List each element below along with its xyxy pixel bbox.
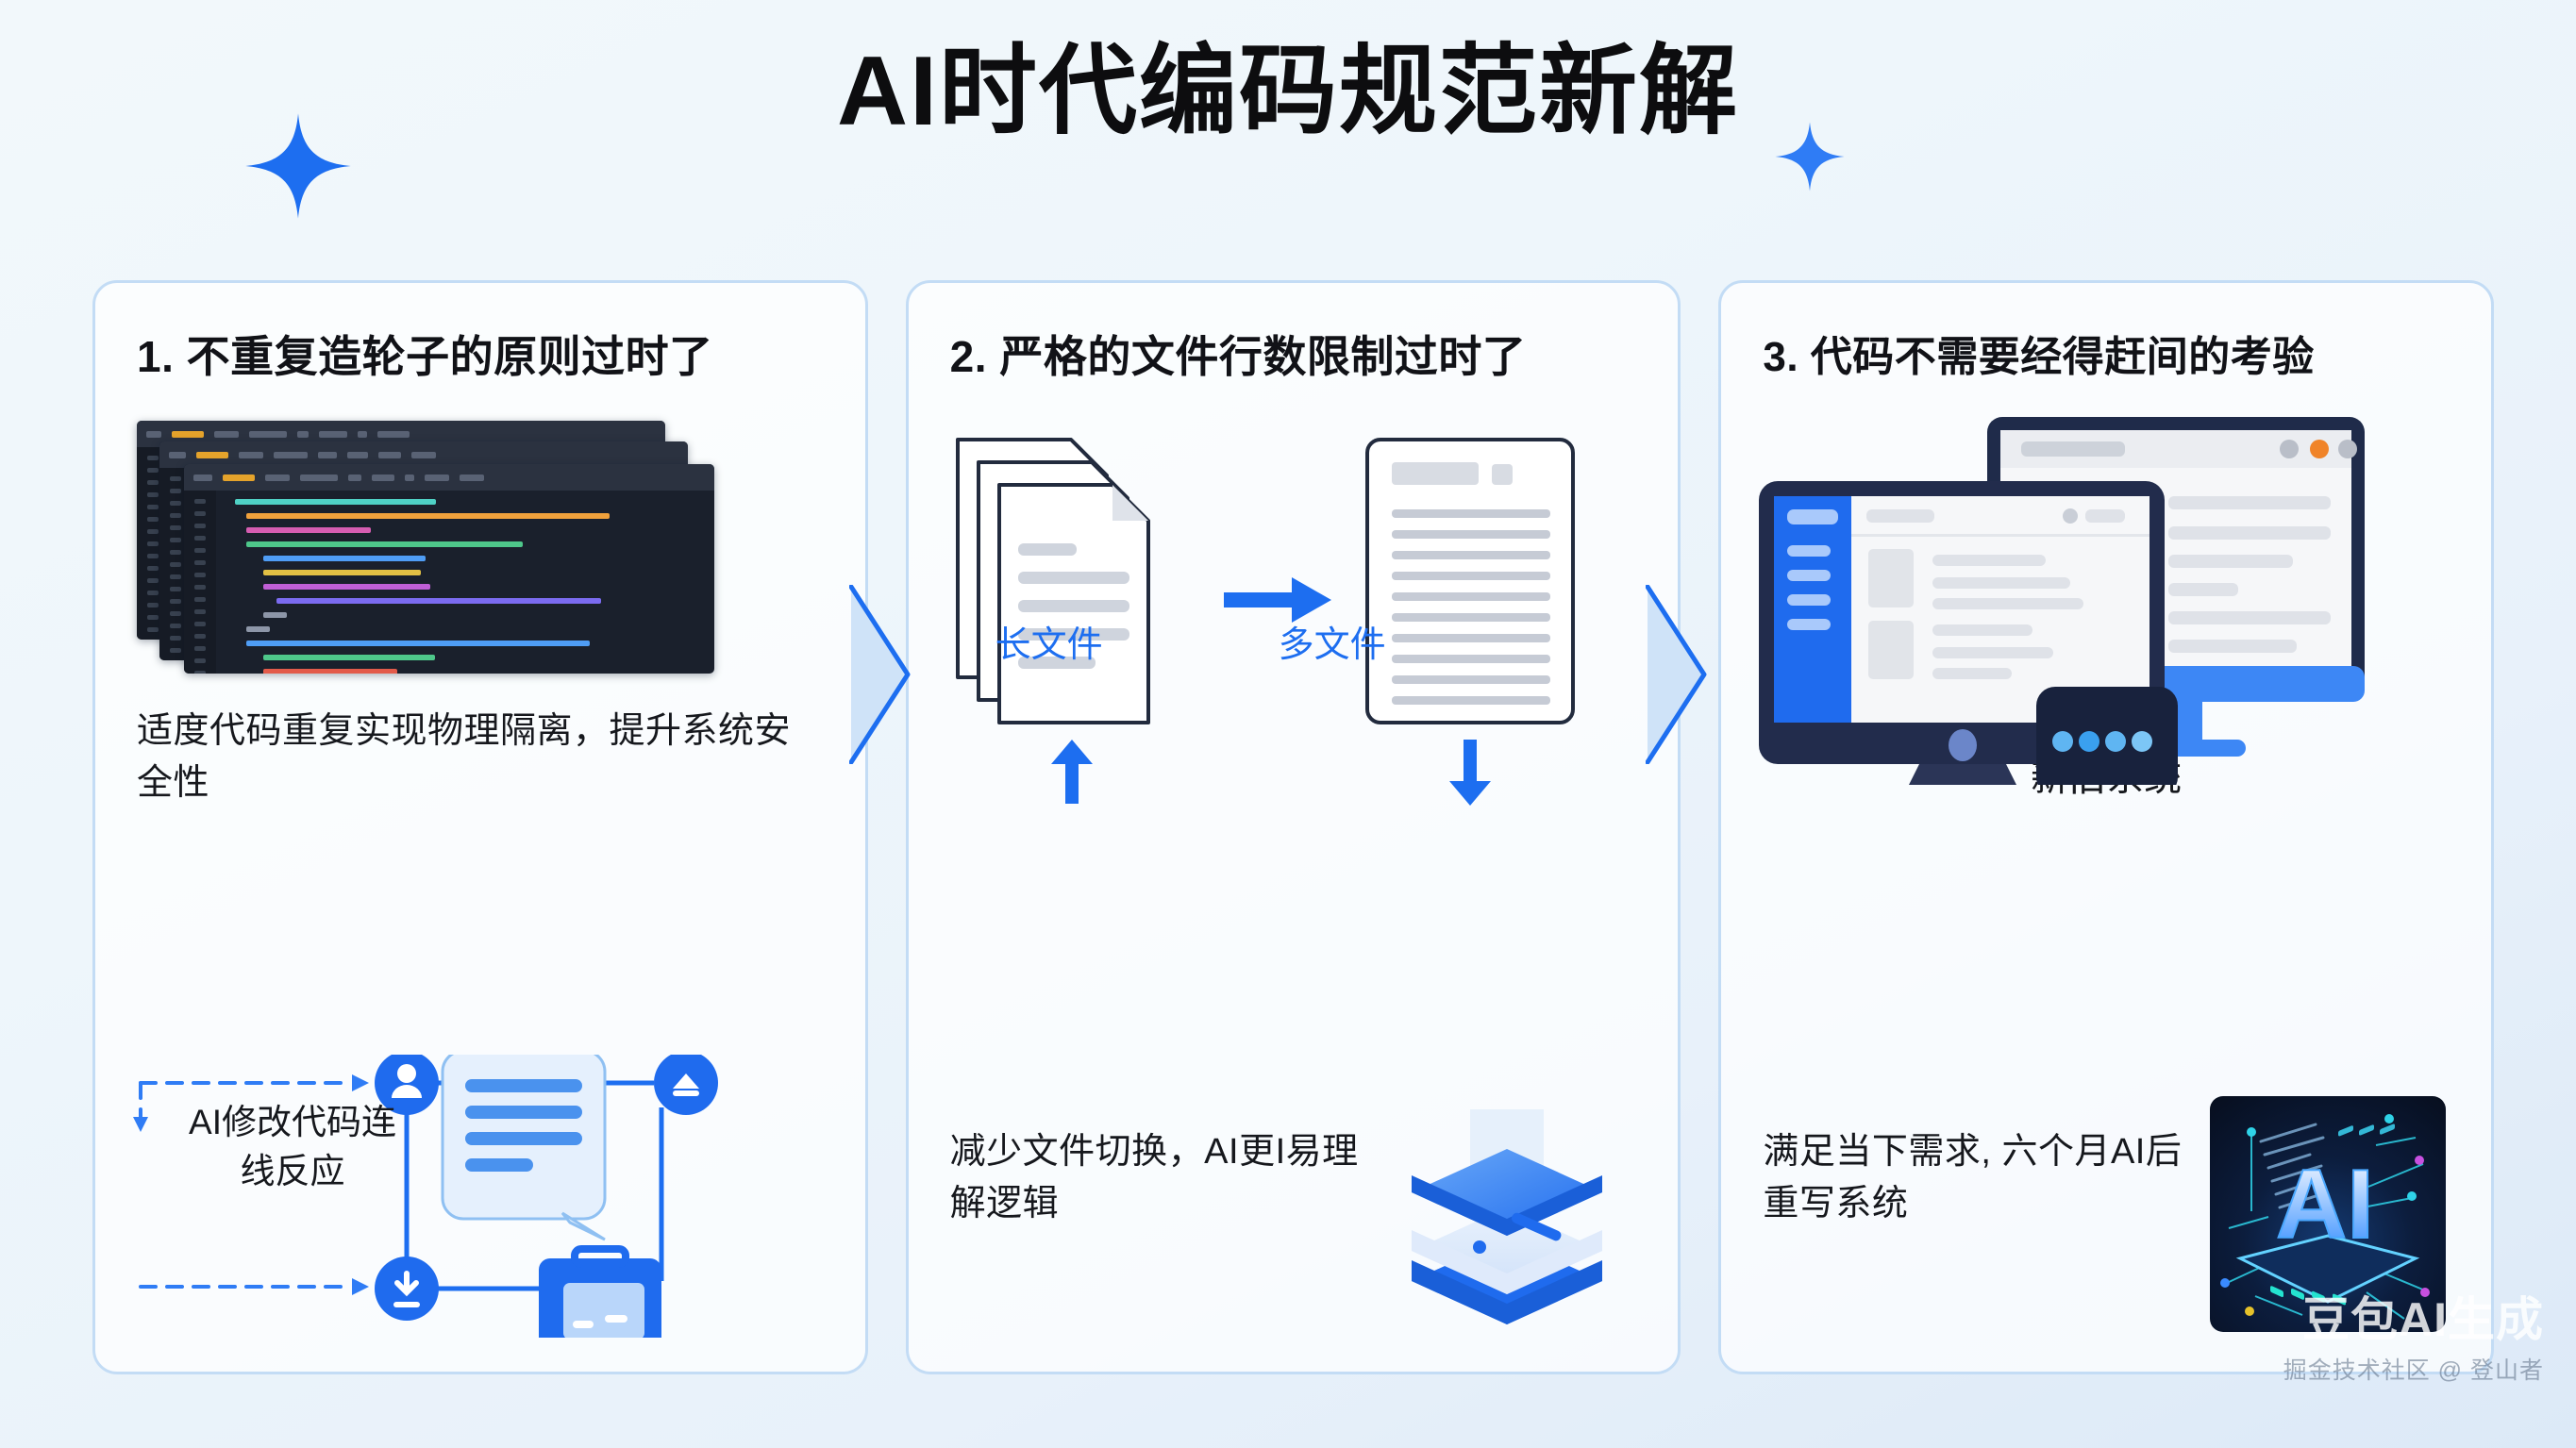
chat-bubble-icon bbox=[2036, 687, 2178, 785]
briefcase-icon bbox=[539, 1249, 661, 1338]
watermark: 豆包AI生成 掘金技术社区 @ 登山者 bbox=[2283, 1295, 2544, 1387]
ai-chip-label: AI bbox=[2276, 1150, 2374, 1259]
card-1-body: 适度代码重复实现物理隔离，提升系统安全性 bbox=[137, 706, 824, 809]
cards-container: 1. 不重复造轮子的原则过时了 bbox=[92, 280, 2494, 1374]
stacked-layers-icon bbox=[1389, 1096, 1625, 1332]
page-header: AI时代编码规范新解 bbox=[0, 36, 2576, 149]
code-window-titlebar bbox=[184, 464, 714, 491]
card-2-caption-right: 多文件 bbox=[1279, 615, 1386, 667]
sparkle-icon-right bbox=[1774, 121, 1846, 192]
watermark-sub: 掘金技术社区 @ 登山者 bbox=[2283, 1352, 2544, 1386]
node-network-diagram: AI修改代码连线反应 bbox=[133, 1055, 718, 1338]
card-1-title: 1. 不重复造轮子的原则过时了 bbox=[137, 323, 824, 385]
watermark-main: 豆包AI生成 bbox=[2283, 1295, 2544, 1345]
card-2-title: 2. 严格的文件行数限制过时了 bbox=[950, 323, 1637, 385]
card-2-caption-left: 长文件 bbox=[995, 615, 1103, 667]
cloud-node-icon bbox=[654, 1055, 718, 1115]
card-2-body: 减少文件切换，AI更I易理解逻辑 bbox=[950, 1126, 1394, 1230]
download-node-icon bbox=[375, 1257, 439, 1321]
code-lines bbox=[216, 491, 714, 674]
long-document-icon bbox=[1367, 440, 1573, 723]
document-stack-icon bbox=[958, 440, 1148, 723]
chevron-right-icon-1 bbox=[849, 585, 912, 764]
dual-monitors-with-chat bbox=[1763, 402, 2450, 741]
chevron-right-icon-2 bbox=[1646, 585, 1708, 764]
card-principle-1: 1. 不重复造轮子的原则过时了 bbox=[92, 280, 868, 1374]
card-3-body: 满足当下需求, 六个月AI后重写系统 bbox=[1763, 1126, 2206, 1230]
arrow-down-icon bbox=[1449, 740, 1491, 806]
documents-transform bbox=[950, 413, 1637, 734]
arrow-up-icon bbox=[1051, 740, 1093, 804]
card-principle-2: 2. 严格的文件行数限制过时了 bbox=[906, 280, 1681, 1374]
card-principle-3: 3. 代码不需要经得赶间的考验 bbox=[1718, 280, 2494, 1374]
code-window-front bbox=[184, 464, 714, 674]
speech-bubble-icon bbox=[443, 1055, 605, 1240]
sparkle-icon-left bbox=[243, 111, 353, 221]
page-title: AI时代编码规范新解 bbox=[0, 36, 2576, 149]
stacked-code-editor-windows bbox=[137, 421, 741, 674]
card-3-title: 3. 代码不需要经得赶间的考验 bbox=[1763, 323, 2450, 383]
card-1-diagram-label: AI修改代码连线反应 bbox=[175, 1098, 410, 1196]
